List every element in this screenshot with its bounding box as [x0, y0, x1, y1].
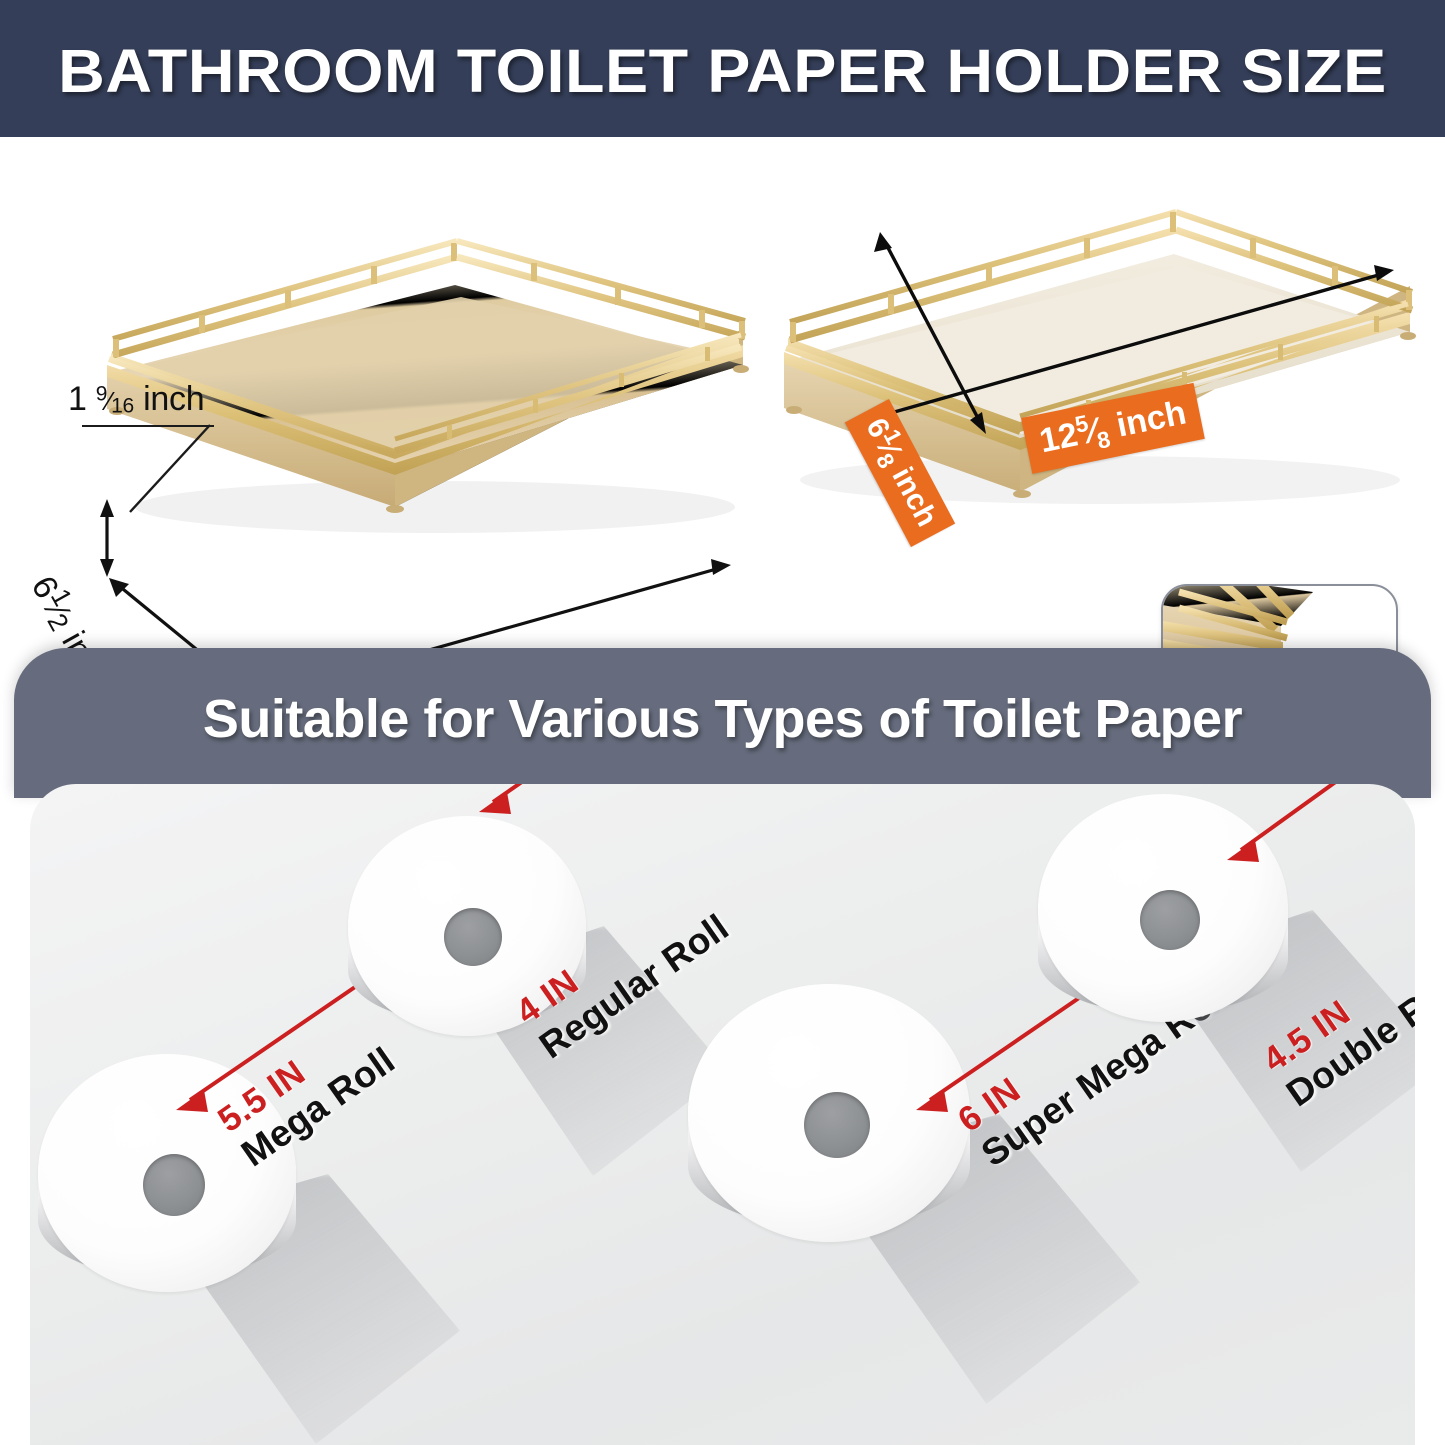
page-title: BATHROOM TOILET PAPER HOLDER SIZE: [0, 36, 1445, 106]
dimension-label-height: 1 9⁄16 inch: [68, 380, 204, 419]
types-title: Suitable for Various Types of Toilet Pap…: [14, 688, 1431, 750]
roll-double-arrow: [1205, 784, 1415, 885]
rolls-stage: 5.5 IN Mega Roll 4 IN Regular Roll: [30, 784, 1415, 1445]
infographic-root: BATHROOM TOILET PAPER HOLDER SIZE: [0, 0, 1445, 1445]
right-tray-dimension-lines: [770, 162, 1430, 542]
header-banner: BATHROOM TOILET PAPER HOLDER SIZE: [0, 0, 1445, 137]
size-diagram-section: 1 9⁄16 inch 61⁄2 inch 13 inch: [0, 137, 1445, 642]
roll-regular-arrow: [455, 784, 715, 835]
dimension-underline: [82, 425, 214, 427]
toilet-paper-types-section: Suitable for Various Types of Toilet Pap…: [0, 648, 1445, 1445]
types-banner: Suitable for Various Types of Toilet Pap…: [14, 648, 1431, 798]
